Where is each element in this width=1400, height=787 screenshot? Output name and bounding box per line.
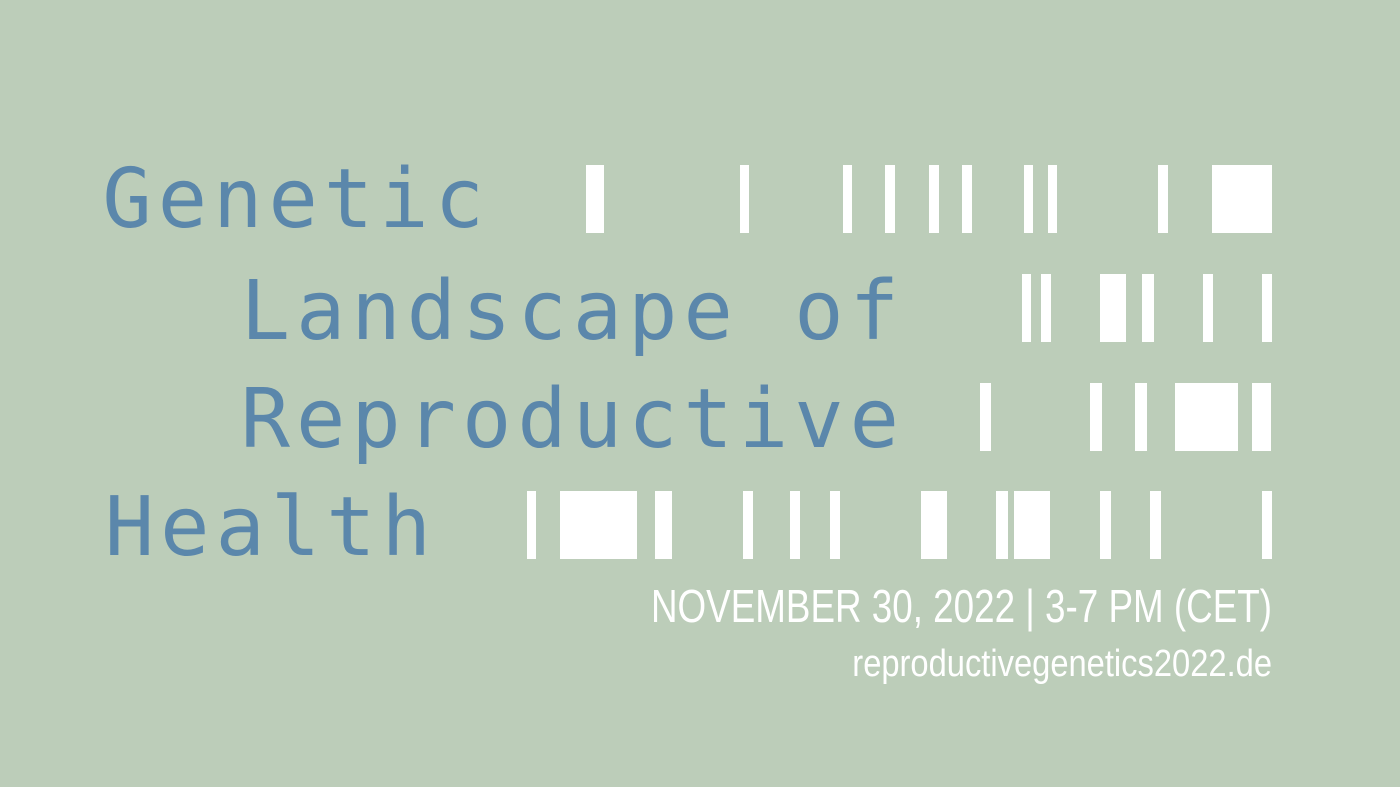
barcode-bar xyxy=(921,491,947,559)
barcode-bar xyxy=(1014,491,1050,559)
barcode-bar xyxy=(1212,165,1272,233)
barcode-bar xyxy=(790,491,800,559)
barcode-bar xyxy=(1262,274,1272,342)
event-website-url: reproductivegenetics2022.de xyxy=(178,640,1272,688)
barcode-bar xyxy=(962,165,972,233)
barcode-bar xyxy=(527,491,536,559)
barcode-bar xyxy=(1048,165,1057,233)
barcode-bar xyxy=(1100,491,1111,559)
barcode-bar xyxy=(1100,274,1126,342)
title-line-3-row: Reproductive xyxy=(0,370,1400,470)
barcode-bar xyxy=(1150,491,1161,559)
barcode-bar xyxy=(843,165,852,233)
barcode-bar xyxy=(1135,383,1147,451)
barcode-bar xyxy=(980,383,991,451)
barcode-bar xyxy=(743,491,753,559)
barcode-bar xyxy=(586,165,604,233)
barcode-bar xyxy=(1022,274,1031,342)
barcode-bar xyxy=(1024,165,1033,233)
barcode-bar xyxy=(996,491,1008,559)
barcode-bar xyxy=(929,165,939,233)
barcode-bar xyxy=(1175,383,1238,451)
barcode-bar xyxy=(560,491,637,559)
poster-canvas: Genetic Landscape of Reproductive Health… xyxy=(0,0,1400,787)
barcode-bar xyxy=(1142,274,1154,342)
event-date-time: NOVEMBER 30, 2022 | 3-7 PM (CET) xyxy=(254,578,1272,634)
barcode-bar xyxy=(1041,274,1051,342)
barcode-bar xyxy=(830,491,840,559)
barcode-bar xyxy=(885,165,895,233)
barcode-bar xyxy=(740,165,749,233)
title-line-1-row: Genetic xyxy=(0,150,1400,250)
barcode-bar xyxy=(655,491,672,559)
title-line-2-row: Landscape of xyxy=(0,262,1400,362)
barcode-row-2 xyxy=(0,262,1400,362)
barcode-bar xyxy=(1252,383,1271,451)
barcode-row-4 xyxy=(0,478,1400,578)
barcode-bar xyxy=(1090,383,1102,451)
barcode-bar xyxy=(1203,274,1213,342)
barcode-bar xyxy=(1262,491,1272,559)
title-line-4-row: Health xyxy=(0,478,1400,578)
barcode-row-1 xyxy=(0,150,1400,250)
barcode-row-3 xyxy=(0,370,1400,470)
barcode-bar xyxy=(1158,165,1168,233)
